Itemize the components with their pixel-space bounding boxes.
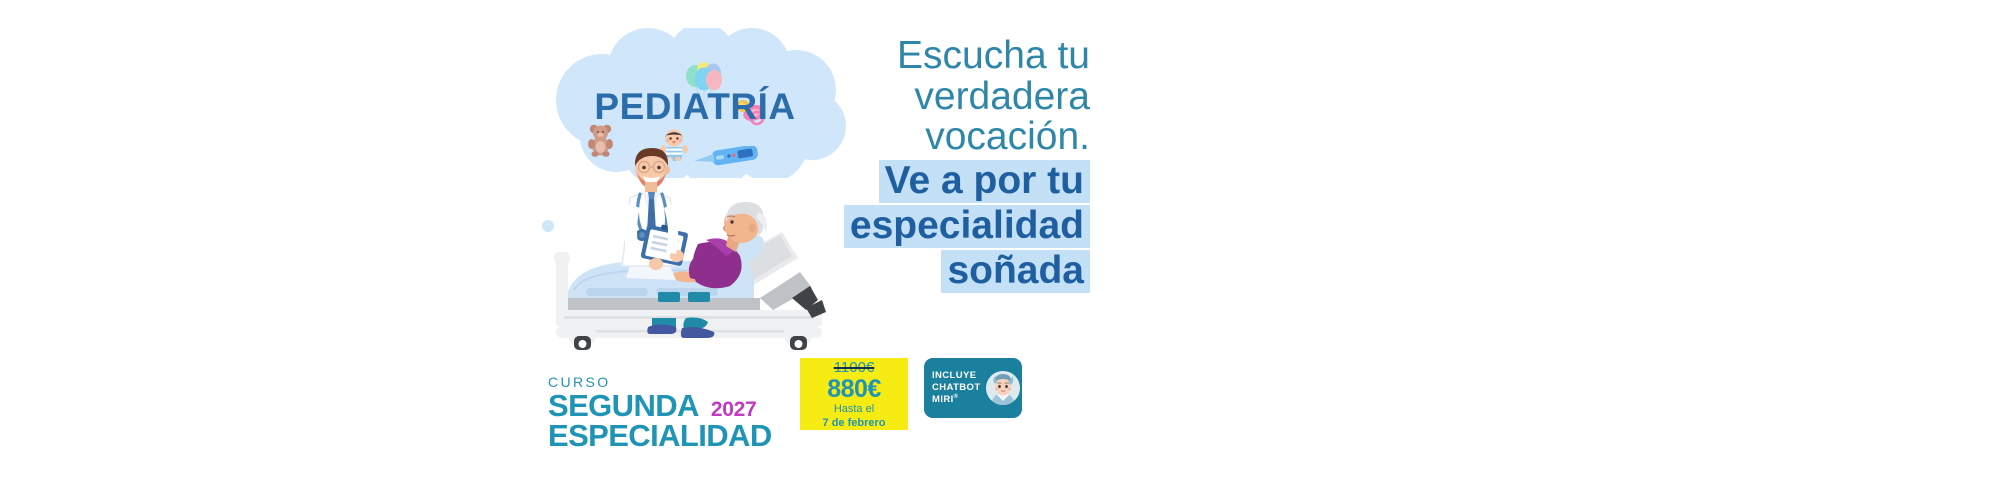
price-old: 1100€ [834, 360, 875, 376]
headline-line-6: soñada [830, 250, 1090, 293]
banner-stage: PEDIATRÍA [500, 0, 1500, 500]
price-box: 1100€ 880€ Hasta el 7 de febrero [800, 358, 908, 430]
headline-line-4-text: Ve a por tu [879, 160, 1090, 203]
chatbot-avatar-icon [986, 371, 1020, 405]
course-year: 2027 [711, 399, 757, 420]
chatbot-line-3: MIRI® [932, 394, 981, 406]
chatbot-name: MIRI [932, 394, 954, 405]
headline-line-1: Escucha tu [830, 36, 1090, 77]
price-until-label: Hasta el [834, 403, 874, 416]
doctor-patient-scene [530, 140, 860, 370]
headline-line-2: verdadera [830, 77, 1090, 118]
headline-line-6-text: soñada [941, 250, 1090, 293]
avatar [986, 371, 1020, 405]
headline-line-5: especialidad [830, 205, 1090, 248]
scene-illustration [530, 140, 860, 370]
chatbot-line-1: INCLUYE [932, 370, 981, 382]
chatbot-badge[interactable]: INCLUYE CHATBOT MIRI® [924, 358, 1022, 418]
badges-row: 1100€ 880€ Hasta el 7 de febrero INCLUYE… [800, 358, 1022, 430]
price-until-date: 7 de febrero [823, 417, 886, 430]
bubble-title: PEDIATRÍA [530, 88, 860, 125]
headline-line-4: Ve a por tu [830, 160, 1090, 203]
price-new: 880€ [827, 376, 881, 402]
promo-banner: PEDIATRÍA [0, 0, 2000, 500]
chatbot-badge-text: INCLUYE CHATBOT MIRI® [932, 370, 981, 407]
headline-line-3: vocación. [830, 117, 1090, 158]
chatbot-line-2: CHATBOT [932, 382, 981, 394]
headline-line-5-text: especialidad [844, 205, 1090, 248]
headline: Escucha tu verdadera vocación. Ve a por … [830, 36, 1090, 293]
chatbot-trademark: ® [954, 394, 959, 400]
course-title-segunda: SEGUNDA [548, 391, 699, 421]
